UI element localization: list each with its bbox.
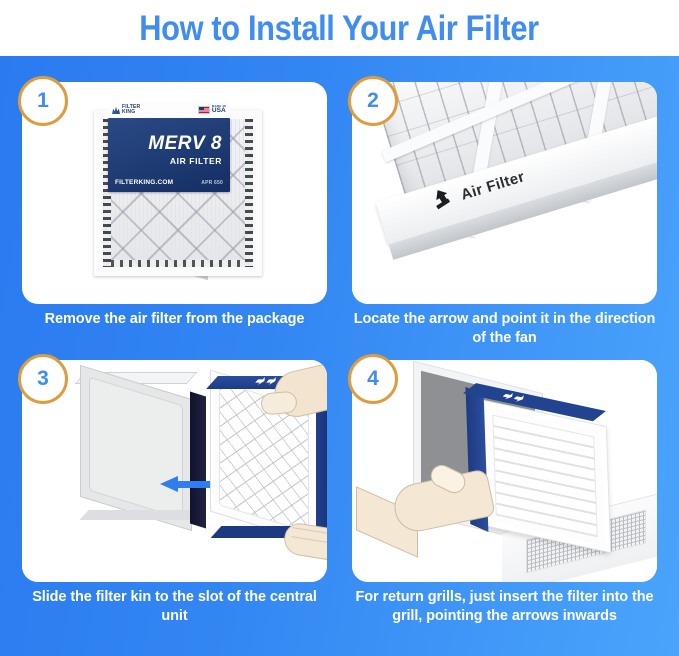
central-unit-panel [89,377,183,520]
steps-grid: FILTER KING MADE IN USA [0,56,679,656]
label-header-strip: FILTER KING MADE IN USA [108,102,230,118]
step-badge-2: 2 [348,76,398,126]
filter-edge [316,392,327,539]
step-caption-1: Remove the air filter from the package [18,310,331,329]
step-caption-3: Slide the filter kin to the slot of the … [18,588,331,627]
step-badge-1: 1 [18,76,68,126]
step-4-image-card [352,360,657,582]
title-bar: How to Install Your Air Filter [0,0,679,56]
step-3-image-card [22,360,327,582]
step-caption-2: Locate the arrow and point it in the dir… [348,310,661,349]
product-type: AIR FILTER [108,156,222,166]
brand-name: FILTER KING [122,105,140,116]
step-badge-4: 4 [348,354,398,404]
origin-text: MADE IN USA [212,105,226,115]
filter-corner-photo: Air Filter [352,82,657,304]
page-title: How to Install Your Air Filter [140,11,540,46]
filter-king-logo: FILTER KING [112,105,140,116]
central-unit-face [80,365,192,531]
made-in-usa-badge: MADE IN USA [198,105,226,115]
step-badge-3: 3 [18,354,68,404]
us-flag-icon [198,106,210,114]
step-card-3: 3 Slide the filter kin to the slot of th… [22,360,327,582]
step-1-image-card: FILTER KING MADE IN USA [22,82,327,304]
step-card-2: Air Filter 2 Locate the arrow and point … [352,82,657,304]
step-caption-4: For return grills, just insert the filte… [348,588,661,627]
filter-product-label: FILTER KING MADE IN USA [108,118,230,192]
arrow-shaft [176,481,212,488]
crown-icon [112,106,120,114]
filter-slot [190,392,206,529]
insert-direction-arrow-icon [160,476,212,492]
infographic-root: How to Install Your Air Filter [0,0,679,656]
website-url: FILTERKING.COM [115,179,173,186]
step-2-image-card: Air Filter [352,82,657,304]
steps-stage: FILTER KING MADE IN USA [0,56,679,656]
step-card-1: FILTER KING MADE IN USA [22,82,327,304]
hand-lower [282,521,327,563]
filter-slide-into-slot-illustration [22,360,327,582]
filter-product: FILTER KING MADE IN USA [94,104,266,282]
grill-louvers [492,415,597,538]
filter-corner-body: Air Filter [352,82,657,304]
apr-rating: APR 650 [201,180,223,186]
merv-rating: MERV 8 [108,134,222,153]
label-footer: FILTERKING.COM APR 650 [115,179,223,186]
air-filter-product-photo: FILTER KING MADE IN USA [22,82,327,304]
central-unit-base [79,510,200,520]
return-grill-insert-illustration [352,360,657,582]
filter-bottom-strip [111,260,245,267]
step-card-4: 4 For return grills, just insert the fil… [352,360,657,582]
filter-side-strip-right [245,119,253,267]
